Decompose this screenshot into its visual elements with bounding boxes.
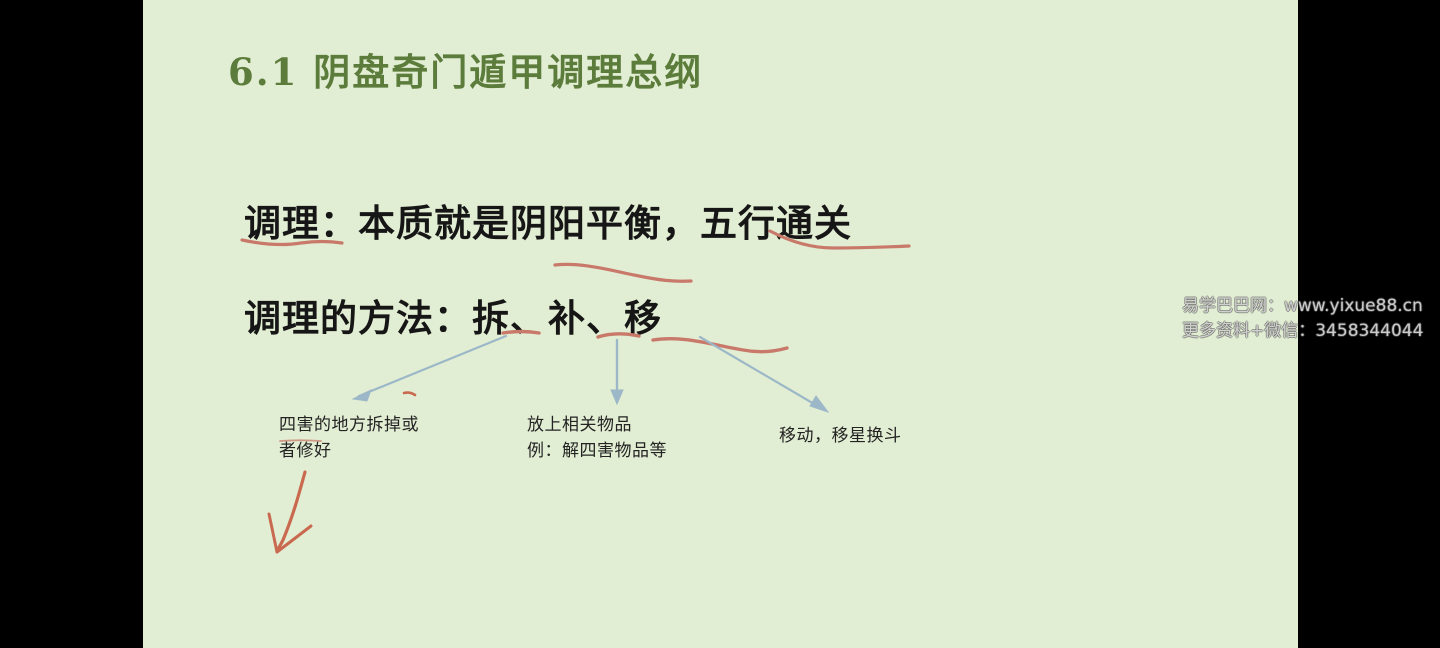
- arrow-chai-to-caption: [353, 336, 506, 401]
- underline-yi: [653, 339, 787, 352]
- page-title: 6.1 阴盘奇门遁甲调理总纲: [228, 42, 703, 96]
- screenshot-root: 6.1 阴盘奇门遁甲调理总纲 调理：本质就是阴阳平衡，五行通关 调理的方法：拆、…: [0, 0, 1440, 648]
- letterbox-bar-left: [0, 0, 143, 648]
- red-handdrawn-arrow: [269, 472, 311, 552]
- watermark-wechat: 更多资料+微信：3458344044: [1182, 319, 1432, 344]
- underline-yinyangpingheng: [555, 264, 691, 281]
- caption-bu: 放上相关物品 例：解四害物品等: [527, 413, 677, 464]
- caption-chai: 四害的地方拆掉或者修好: [279, 413, 419, 464]
- arrow-bu-to-caption: [611, 340, 623, 404]
- watermark-site: 易学巴巴网：www.yixue88.cn: [1182, 294, 1432, 319]
- red-tick-mark: [404, 393, 415, 395]
- watermark: 易学巴巴网：www.yixue88.cn 更多资料+微信：3458344044: [1182, 294, 1432, 343]
- body-line-principle: 调理：本质就是阴阳平衡，五行通关: [244, 193, 852, 247]
- caption-yi: 移动，移星换斗: [779, 424, 979, 450]
- presentation-slide: 6.1 阴盘奇门遁甲调理总纲 调理：本质就是阴阳平衡，五行通关 调理的方法：拆、…: [143, 0, 1298, 648]
- body-line-methods: 调理的方法：拆、补、移: [244, 288, 662, 342]
- arrow-yi-to-caption: [700, 337, 828, 412]
